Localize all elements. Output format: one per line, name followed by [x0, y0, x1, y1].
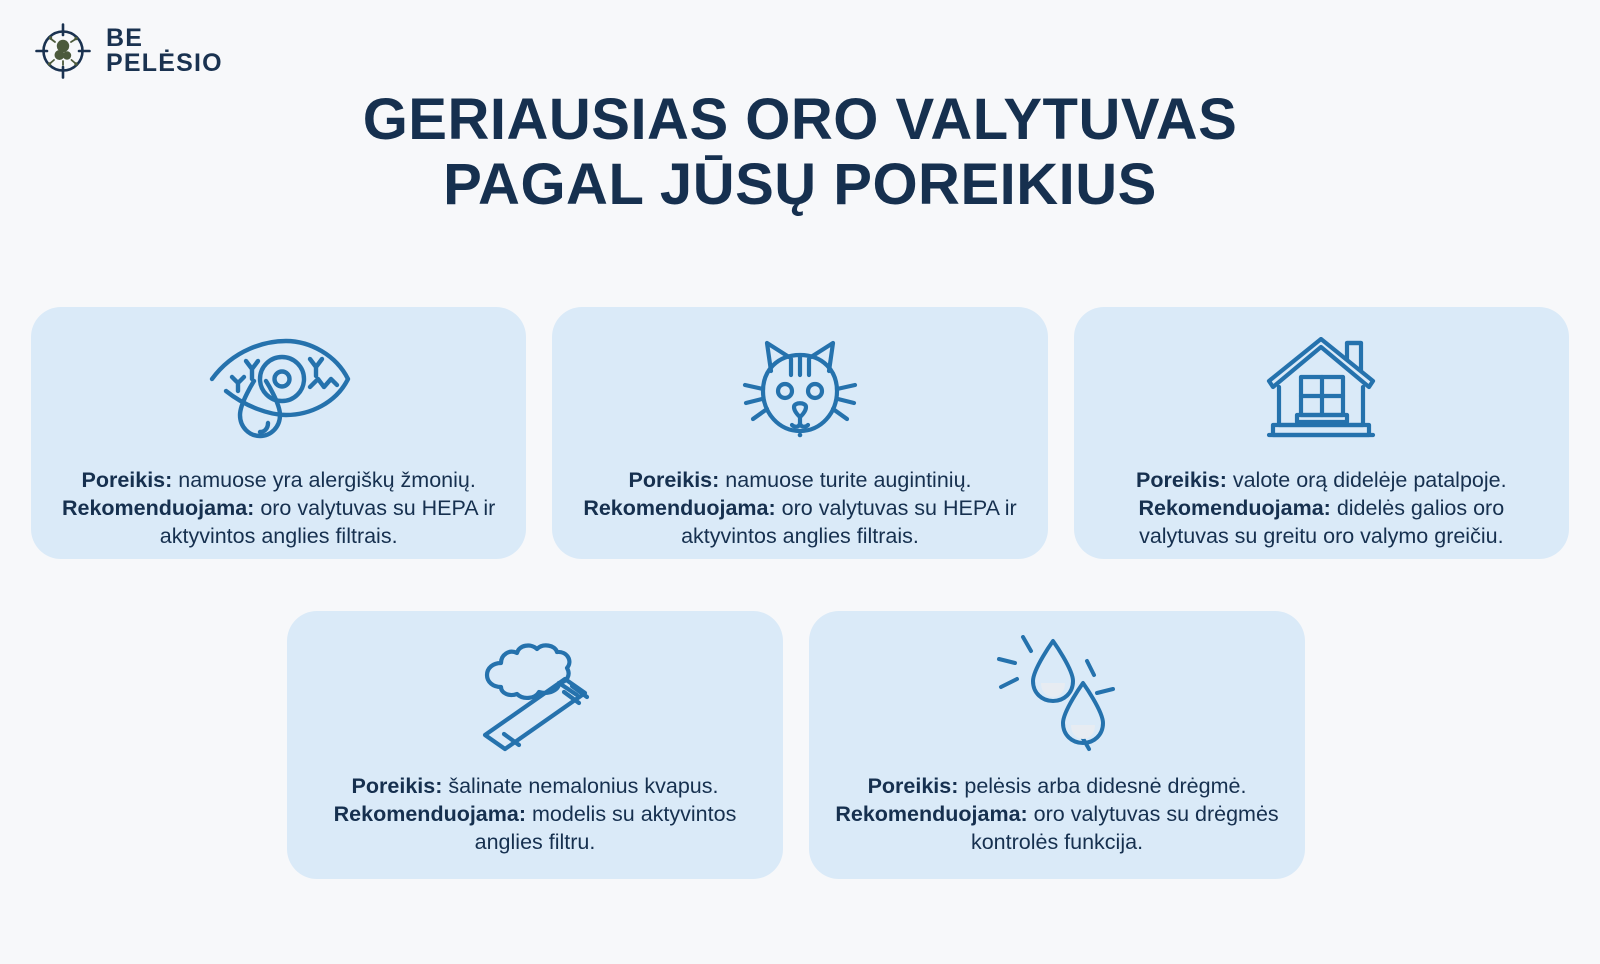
- need-text: šalinate nemalonius kvapus.: [442, 774, 718, 798]
- need-text: namuose yra alergiškų žmonių.: [172, 468, 476, 492]
- mold-spore-crosshair-icon: [34, 22, 92, 80]
- need-line: Poreikis: pelėsis arba didesnė drėgmė.: [831, 773, 1283, 801]
- need-label: Poreikis:: [868, 774, 959, 798]
- need-text: namuose turite augintinių.: [719, 468, 971, 492]
- card-body-text: Poreikis: namuose yra alergiškų žmonių. …: [31, 467, 526, 551]
- page-title: GERIAUSIAS ORO VALYTUVAS PAGAL JŪSŲ PORE…: [0, 88, 1600, 218]
- need-label: Poreikis:: [1136, 468, 1227, 492]
- card-pets: Poreikis: namuose turite augintinių. Rek…: [552, 307, 1047, 559]
- need-line: Poreikis: namuose yra alergiškų žmonių.: [53, 467, 504, 495]
- brand-line-2: PELĖSIO: [106, 51, 223, 77]
- brand-line-1: BE: [106, 26, 223, 52]
- recommendation-line: Rekomenduojama: didelės galios oro valyt…: [1096, 495, 1547, 551]
- need-line: Poreikis: namuose turite augintinių.: [574, 467, 1025, 495]
- brand-wordmark: BE PELĖSIO: [106, 26, 223, 77]
- recommendation-line: Rekomenduojama: oro valytuvas su HEPA ir…: [574, 495, 1025, 551]
- water-droplets-humidity-icon: [991, 633, 1123, 757]
- card-body-text: Poreikis: pelėsis arba didesnė drėgmė. R…: [809, 773, 1305, 857]
- need-line: Poreikis: šalinate nemalonius kvapus.: [309, 773, 761, 801]
- recommendation-label: Rekomenduojama:: [1138, 496, 1330, 520]
- card-odours: Poreikis: šalinate nemalonius kvapus. Re…: [287, 611, 783, 879]
- cat-face-icon: [741, 333, 859, 449]
- card-allergy: Poreikis: namuose yra alergiškų žmonių. …: [31, 307, 526, 559]
- cigarette-smoke-icon: [469, 633, 601, 757]
- need-label: Poreikis:: [628, 468, 719, 492]
- page-title-line-2: PAGAL JŪSŲ POREIKIUS: [0, 153, 1600, 218]
- need-line: Poreikis: valote orą didelėje patalpoje.: [1096, 467, 1547, 495]
- card-row-bottom: Poreikis: šalinate nemalonius kvapus. Re…: [287, 611, 1313, 879]
- card-row-top: Poreikis: namuose yra alergiškų žmonių. …: [31, 307, 1569, 559]
- page-title-line-1: GERIAUSIAS ORO VALYTUVAS: [0, 88, 1600, 153]
- brand-logo: BE PELĖSIO: [34, 22, 223, 80]
- watery-allergic-eye-icon: [204, 333, 354, 449]
- recommendation-line: Rekomenduojama: oro valytuvas su HEPA ir…: [53, 495, 504, 551]
- need-text: valote orą didelėje patalpoje.: [1227, 468, 1507, 492]
- need-label: Poreikis:: [352, 774, 443, 798]
- recommendation-line: Rekomenduojama: oro valytuvas su drėgmės…: [831, 801, 1283, 857]
- recommendation-label: Rekomenduojama:: [62, 496, 254, 520]
- card-large-room: Poreikis: valote orą didelėje patalpoje.…: [1074, 307, 1569, 559]
- recommendation-line: Rekomenduojama: modelis su aktyvintos an…: [309, 801, 761, 857]
- need-text: pelėsis arba didesnė drėgmė.: [958, 774, 1246, 798]
- need-label: Poreikis:: [81, 468, 172, 492]
- card-body-text: Poreikis: šalinate nemalonius kvapus. Re…: [287, 773, 783, 857]
- card-body-text: Poreikis: namuose turite augintinių. Rek…: [552, 467, 1047, 551]
- recommendation-label: Rekomenduojama:: [334, 802, 526, 826]
- recommendation-label: Rekomenduojama:: [583, 496, 775, 520]
- card-humidity: Poreikis: pelėsis arba didesnė drėgmė. R…: [809, 611, 1305, 879]
- recommendation-label: Rekomenduojama:: [835, 802, 1027, 826]
- house-icon: [1265, 333, 1377, 449]
- card-body-text: Poreikis: valote orą didelėje patalpoje.…: [1074, 467, 1569, 551]
